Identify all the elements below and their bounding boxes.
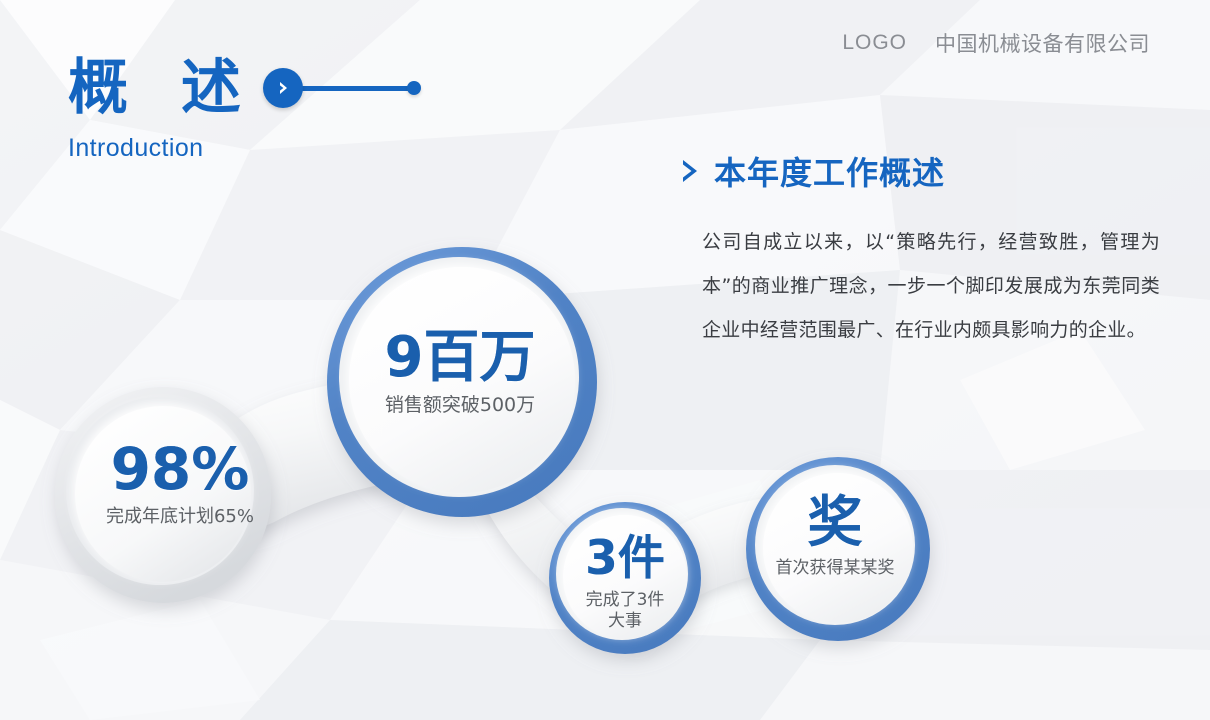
node-circle-award xyxy=(746,457,930,641)
node-circle-3j xyxy=(549,502,701,654)
node-circle-98 xyxy=(55,387,271,603)
infographic xyxy=(0,0,1210,720)
node-circle-9m xyxy=(327,247,597,517)
slide-root: LOGO 中国机械设备有限公司 概 述 Introduction 本年度工作概述… xyxy=(0,0,1210,720)
infographic-shapes xyxy=(0,0,1210,720)
